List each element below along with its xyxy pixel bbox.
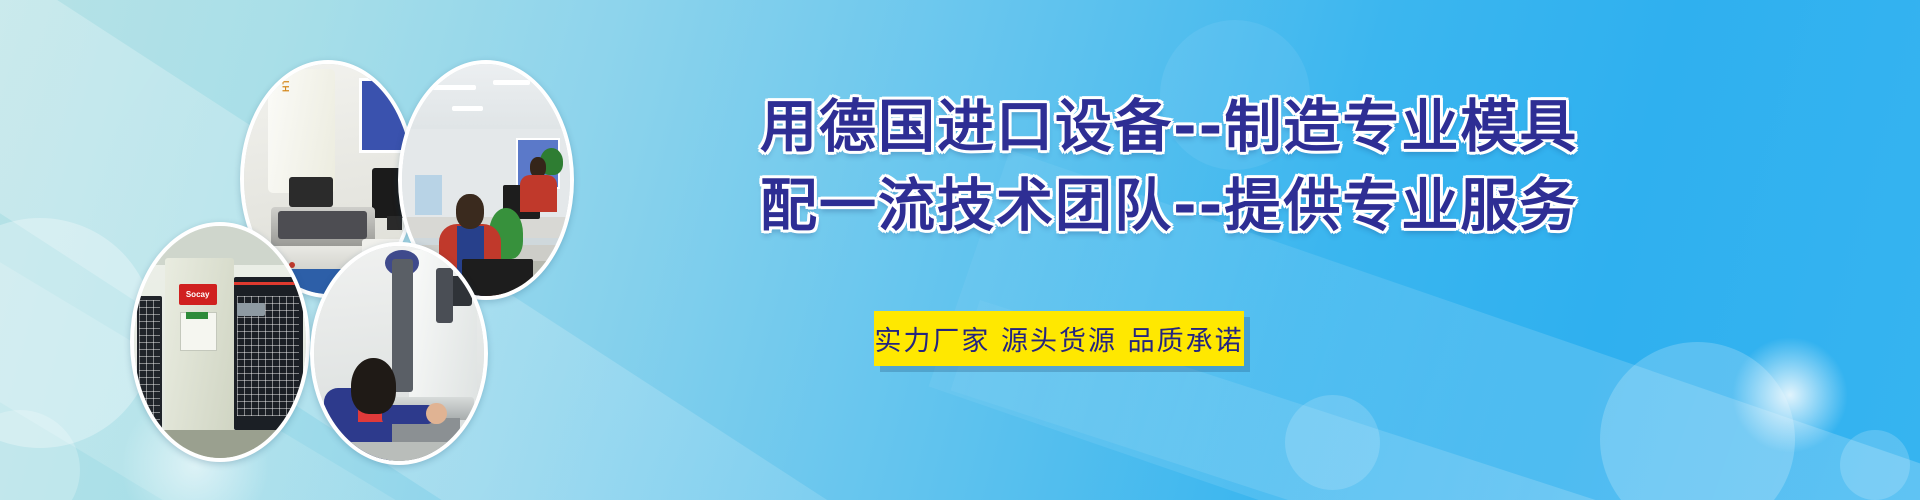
bubble-circle-bottom-center xyxy=(1285,395,1380,490)
photo-cluster: HT-3020 xyxy=(120,52,590,422)
bubble-circle-right-small xyxy=(1840,430,1910,500)
photo-cnc-machine: Socay xyxy=(130,222,310,462)
headline-block: 用德国进口设备--制造专业模具 配一流技术团队--提供专业服务 xyxy=(760,88,1360,245)
tagline-ribbon: 实力厂家 源头货源 品质承诺 xyxy=(874,311,1244,366)
headline-line-2: 配一流技术团队--提供专业服务 xyxy=(760,167,1360,246)
promo-banner: HT-3020 xyxy=(0,0,1920,500)
bubble-circle-right-large xyxy=(1600,342,1795,500)
tagline-text: 实力厂家 源头货源 品质承诺 xyxy=(874,319,1243,358)
machine-label-socay: Socay xyxy=(179,284,217,305)
machine-label-ht3020: HT-3020 xyxy=(281,60,291,92)
photo-inspection-operator xyxy=(310,242,488,465)
headline-line-1: 用德国进口设备--制造专业模具 xyxy=(760,88,1360,167)
light-glow-right xyxy=(1730,335,1850,455)
bubble-circle-left-small xyxy=(0,410,80,500)
